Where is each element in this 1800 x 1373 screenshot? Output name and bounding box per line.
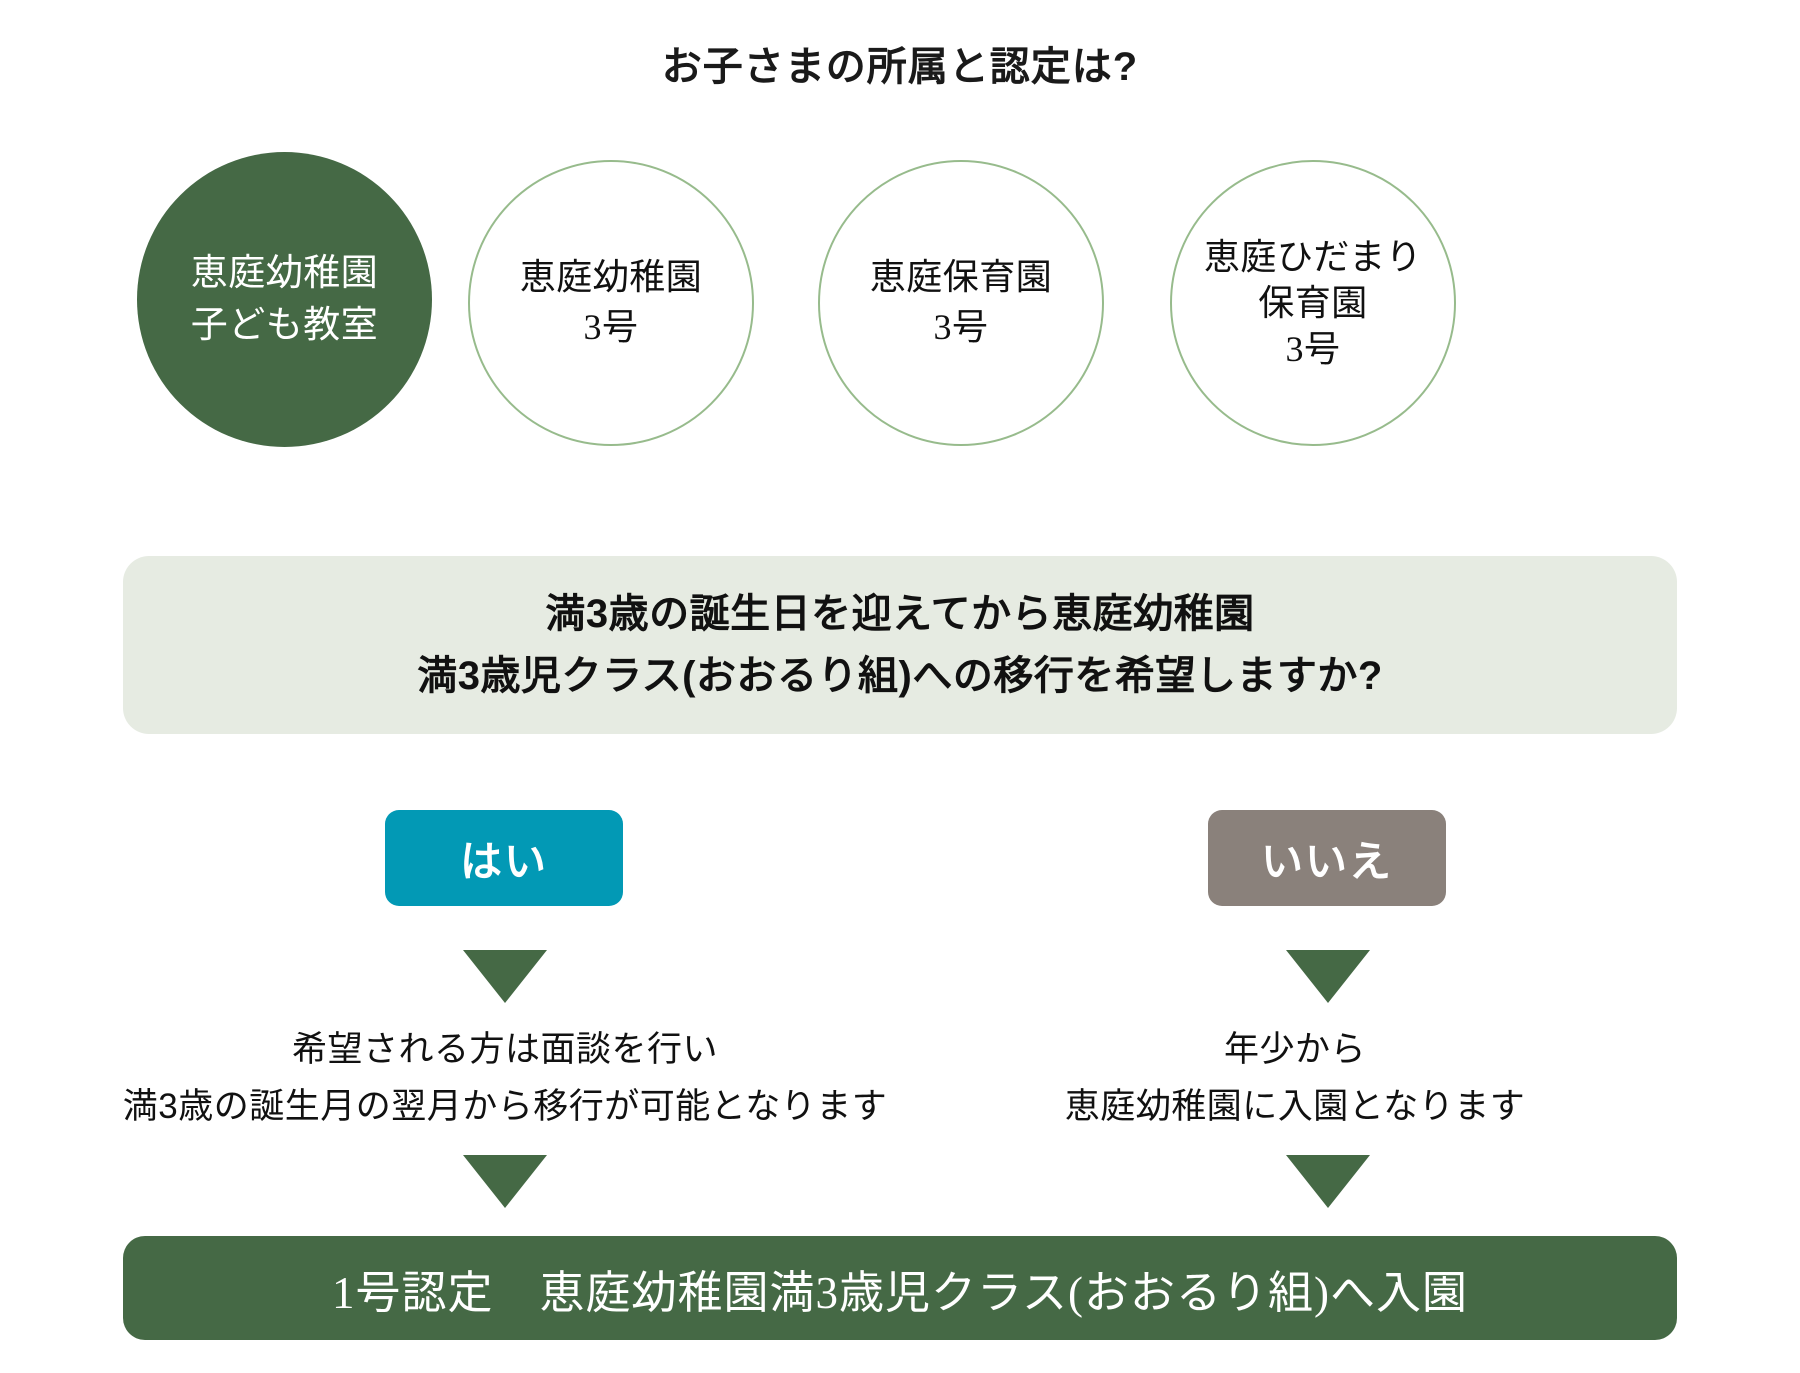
branch-text-line: 希望される方は面談を行い <box>40 1022 970 1079</box>
circle-option-kodomo-kyoshitsu: 恵庭幼稚園 子ども教室 <box>137 152 432 447</box>
triangle-down-icon <box>463 950 547 1003</box>
circle-label-line: 3号 <box>933 303 988 353</box>
question-line: 満3歳の誕生日を迎えてから恵庭幼稚園 <box>545 583 1254 645</box>
branch-text-line: 恵庭幼稚園に入園となります <box>985 1079 1605 1136</box>
question-line: 満3歳児クラス(おおるり組)への移行を希望しますか? <box>417 645 1383 707</box>
branch-text-line: 満3歳の誕生月の翌月から移行が可能となります <box>40 1079 970 1136</box>
enrollment-options-row: 恵庭幼稚園 子ども教室 恵庭幼稚園 3号 恵庭保育園 3号 恵庭ひだまり 保育園… <box>0 152 1800 452</box>
circle-option-eniwa-kindergarten-3: 恵庭幼稚園 3号 <box>468 160 754 446</box>
triangle-down-icon <box>1286 950 1370 1003</box>
branch-yes-description: 希望される方は面談を行い 満3歳の誕生月の翌月から移行が可能となります <box>40 1022 970 1135</box>
answer-yes-button[interactable]: はい <box>385 810 623 906</box>
triangle-down-icon <box>1286 1155 1370 1208</box>
circle-label-line: 保育園 <box>1258 280 1368 326</box>
circle-label-line: 3号 <box>583 303 638 353</box>
circle-label-line: 恵庭幼稚園 <box>520 253 703 303</box>
circle-option-eniwa-hidamari-nursery-3: 恵庭ひだまり 保育園 3号 <box>1170 160 1456 446</box>
circle-label-line: 恵庭ひだまり <box>1204 234 1422 280</box>
result-banner: 1号認定 恵庭幼稚園満3歳児クラス(おおるり組)へ入園 <box>123 1236 1677 1340</box>
circle-label-line: 3号 <box>1285 326 1340 372</box>
page-title: お子さまの所属と認定は? <box>0 34 1800 92</box>
branch-text-line: 年少から <box>985 1022 1605 1079</box>
branch-no-description: 年少から 恵庭幼稚園に入園となります <box>985 1022 1605 1135</box>
circle-label-line: 恵庭幼稚園 <box>191 248 379 299</box>
circle-option-eniwa-nursery-3: 恵庭保育園 3号 <box>818 160 1104 446</box>
answer-no-button[interactable]: いいえ <box>1208 810 1446 906</box>
question-panel: 満3歳の誕生日を迎えてから恵庭幼稚園 満3歳児クラス(おおるり組)への移行を希望… <box>123 556 1677 734</box>
triangle-down-icon <box>463 1155 547 1208</box>
circle-label-line: 子ども教室 <box>191 300 379 351</box>
circle-label-line: 恵庭保育園 <box>870 253 1053 303</box>
